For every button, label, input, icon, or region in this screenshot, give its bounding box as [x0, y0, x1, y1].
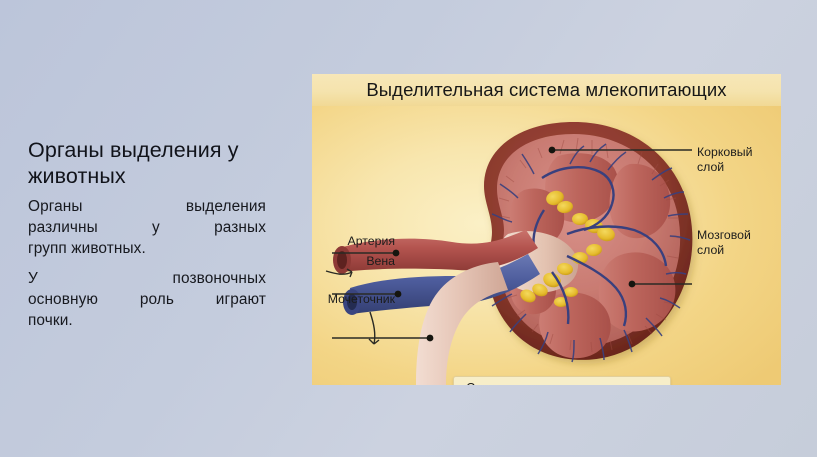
kidney-illustration: Корковый слой Мозговой слой Артерия Вена…: [312, 106, 781, 385]
slide: Органы выделения у животных Органы выдел…: [0, 0, 817, 457]
label-cortex-line-1: Корковый: [697, 145, 752, 160]
body-paragraph-1-line-2: различны у разных: [28, 217, 266, 238]
label-medulla-line-1: Мозговой: [697, 228, 751, 243]
page-title-line-1: Органы выделения: [28, 138, 222, 162]
figure-header-band: Выделительная система млекопитающих: [312, 74, 781, 106]
body-paragraph-1: Органы выделения различны у разных групп…: [28, 196, 266, 259]
label-medulla: Мозговой слой: [697, 228, 751, 257]
body-paragraph-1-line-3: групп животных.: [28, 238, 266, 259]
kidney-figure-panel: Выделительная система млекопитающих: [312, 74, 781, 385]
text-column: Органы выделения у животных Органы выдел…: [28, 138, 266, 331]
body-paragraph-2-line-1: У позвоночных: [28, 268, 266, 289]
page-title: Органы выделения у животных: [28, 138, 266, 189]
label-cortex: Корковый слой: [697, 145, 752, 174]
body-paragraph-1-line-1: Органы выделения: [28, 196, 266, 217]
label-cortex-line-2: слой: [697, 160, 752, 175]
label-medulla-line-2: слой: [697, 243, 751, 258]
figure-caption: Строение почки млекопитающих: [453, 376, 671, 385]
label-ureter: Мочеточник: [328, 292, 395, 307]
body-paragraph-2: У позвоночных основную роль играют почки…: [28, 268, 266, 331]
body-paragraph-2-line-3: почки.: [28, 310, 266, 331]
body-paragraph-2-line-2: основную роль играют: [28, 289, 266, 310]
label-vein: Вена: [366, 254, 395, 269]
figure-title: Выделительная система млекопитающих: [366, 79, 726, 101]
label-artery: Артерия: [348, 234, 395, 249]
